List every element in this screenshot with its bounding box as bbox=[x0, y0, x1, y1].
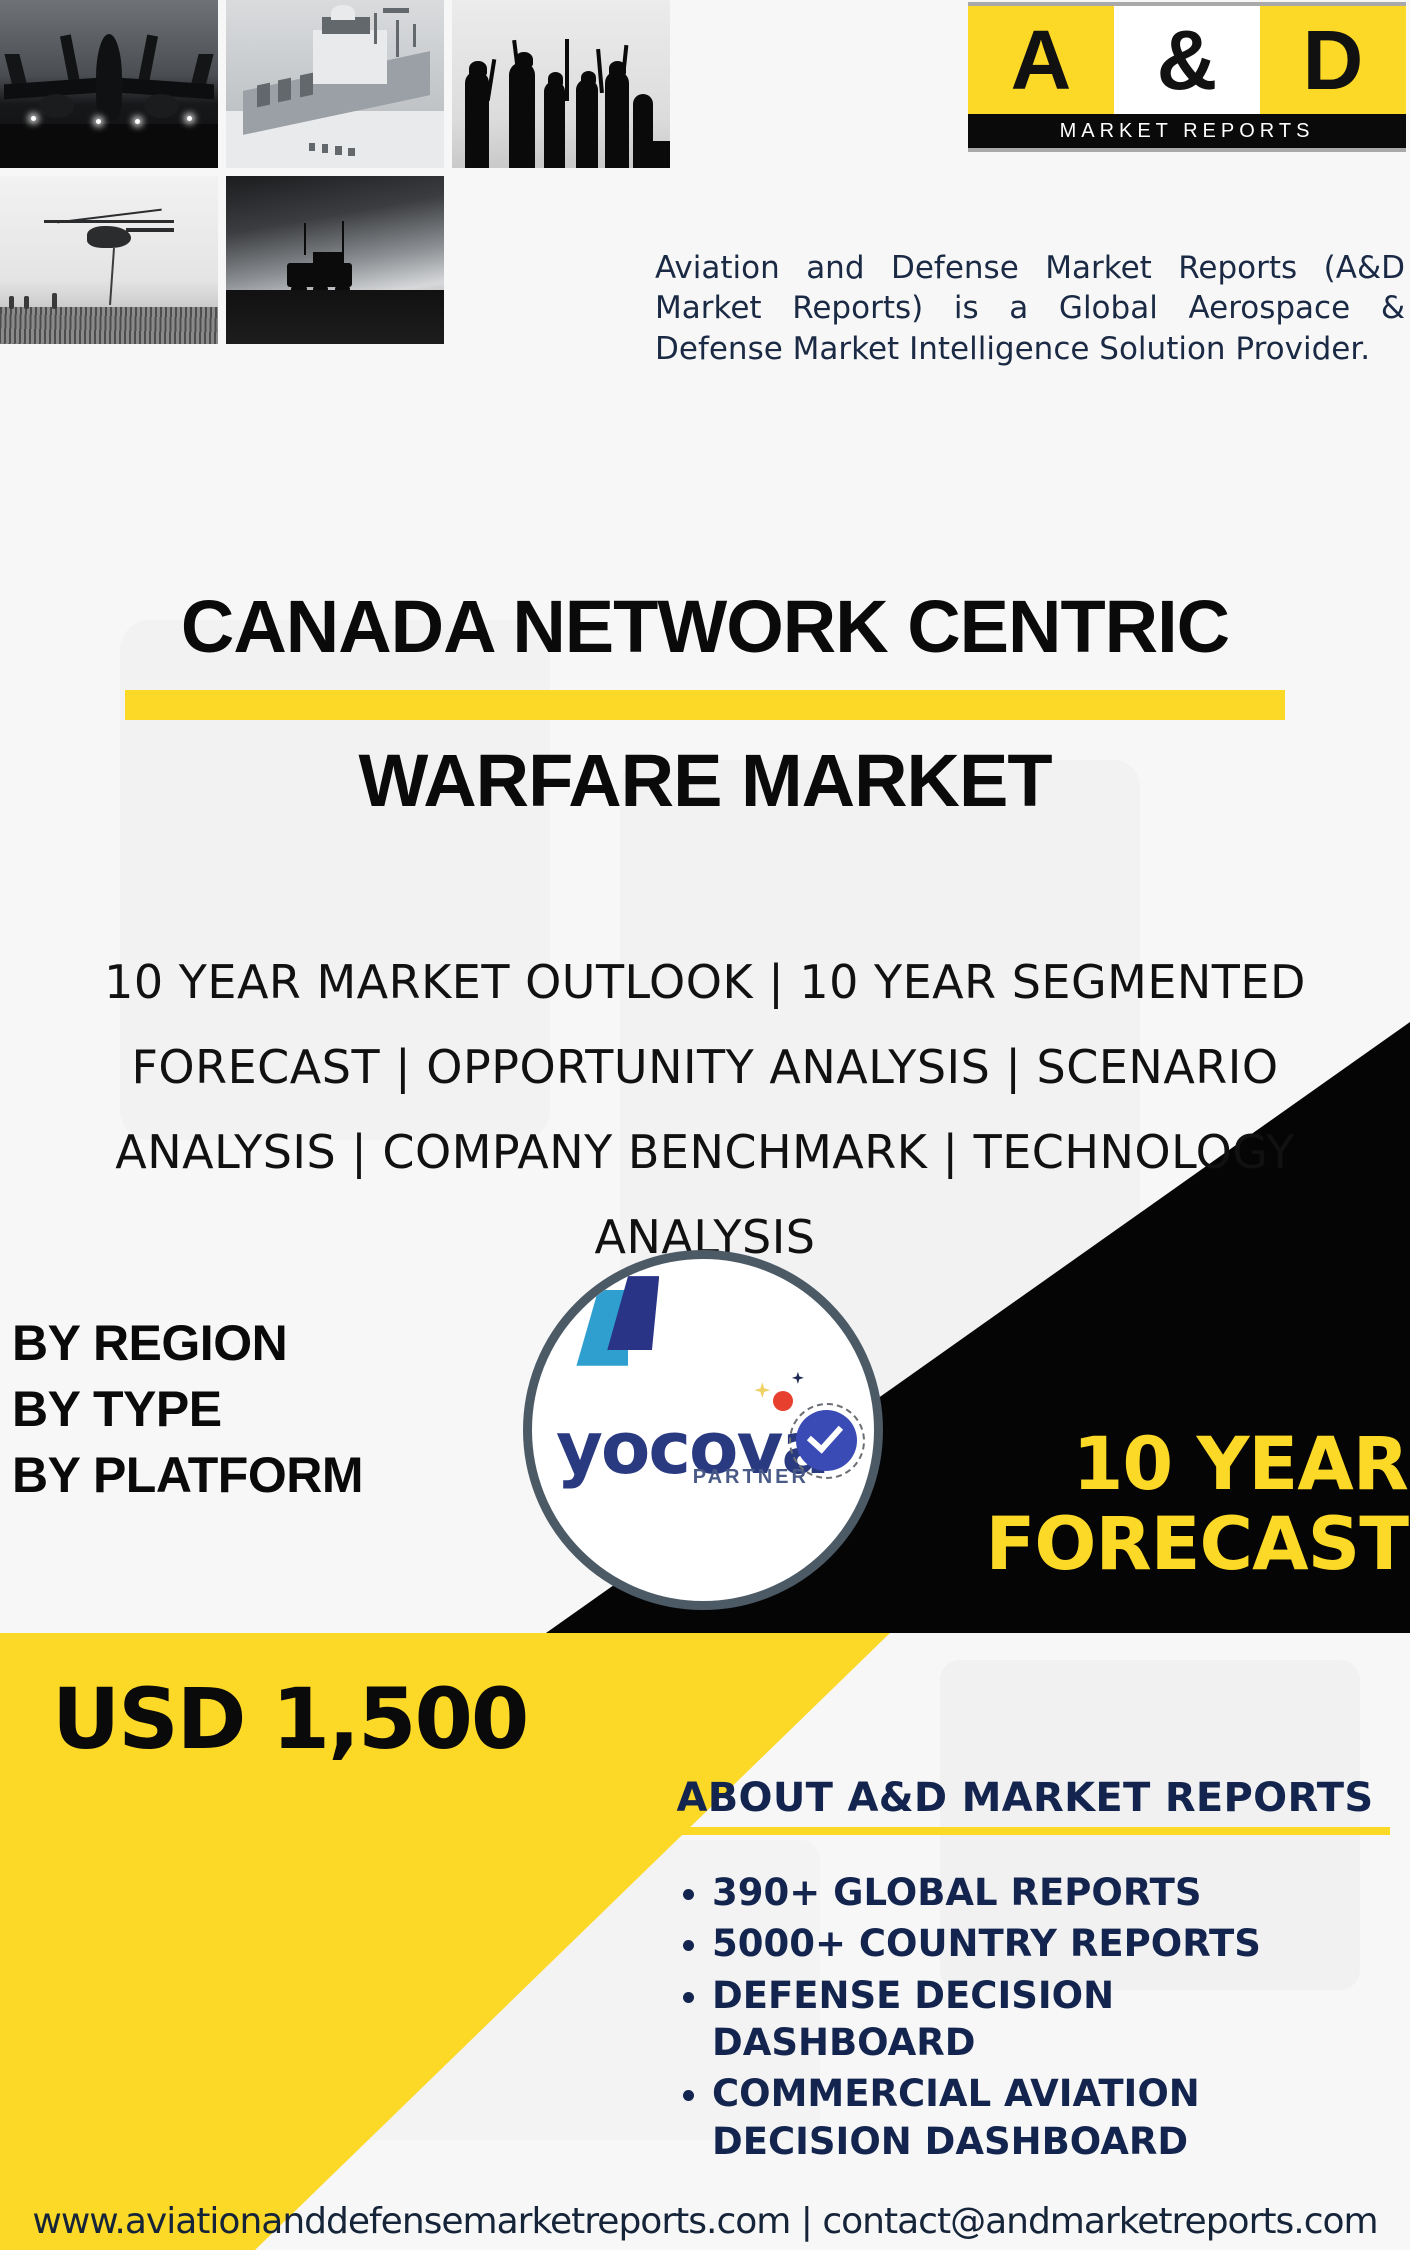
logo-subtitle: MARKET REPORTS bbox=[968, 114, 1406, 148]
report-title: CANADA NETWORK CENTRIC WARFARE MARKET bbox=[0, 590, 1410, 818]
about-heading-underline bbox=[660, 1827, 1390, 1835]
photo-helicopter-fast-rope bbox=[0, 176, 218, 344]
segmentation-list: BY REGION BY TYPE BY PLATFORM bbox=[12, 1310, 532, 1508]
report-title-line-1: CANADA NETWORK CENTRIC bbox=[0, 590, 1410, 664]
segmentation-item-type: BY TYPE bbox=[12, 1376, 532, 1442]
ad-market-reports-logo: A & D MARKET REPORTS bbox=[968, 2, 1406, 156]
price-label: USD 1,500 bbox=[52, 1670, 527, 1768]
logo-letter-ampersand: & bbox=[1114, 6, 1260, 114]
yocova-partner-badge: yocova PARTNER bbox=[523, 1250, 883, 1610]
title-underline-bar bbox=[125, 690, 1285, 720]
poster-canvas: A & D MARKET REPORTS Aviation and Defens… bbox=[0, 0, 1410, 2250]
photo-fighter-jet-on-carrier-deck bbox=[0, 0, 218, 168]
about-bullet-list: 390+ GLOBAL REPORTS 5000+ COUNTRY REPORT… bbox=[660, 1869, 1390, 2165]
list-item: COMMERCIAL AVIATION DECISION DASHBOARD bbox=[712, 2070, 1390, 2165]
photo-soldiers-silhouette bbox=[452, 0, 670, 168]
logo-bottom-rule bbox=[968, 148, 1406, 152]
footer-contact-line: www.aviationanddefensemarketreports.com … bbox=[0, 2201, 1410, 2242]
segmentation-item-platform: BY PLATFORM bbox=[12, 1442, 532, 1508]
report-scope-subtitle: 10 YEAR MARKET OUTLOOK | 10 YEAR SEGMENT… bbox=[30, 940, 1380, 1280]
list-item: 390+ GLOBAL REPORTS bbox=[712, 1869, 1390, 1916]
segmentation-item-region: BY REGION bbox=[12, 1310, 532, 1376]
list-item: 5000+ COUNTRY REPORTS bbox=[712, 1920, 1390, 1967]
sparkle-navy-icon bbox=[792, 1372, 804, 1384]
about-heading: ABOUT A&D MARKET REPORTS bbox=[660, 1775, 1390, 1821]
about-panel: ABOUT A&D MARKET REPORTS 390+ GLOBAL REP… bbox=[660, 1775, 1390, 2169]
photo-armored-vehicle bbox=[226, 176, 444, 344]
verified-seal-icon bbox=[789, 1403, 865, 1479]
logo-letter-a: A bbox=[968, 6, 1114, 114]
logo-letter-d: D bbox=[1260, 6, 1406, 114]
sparkle-yellow-icon bbox=[754, 1382, 770, 1398]
company-intro-paragraph: Aviation and Defense Market Reports (A&D… bbox=[655, 248, 1405, 369]
report-title-line-2: WARFARE MARKET bbox=[0, 744, 1410, 818]
photo-aircraft-carrier bbox=[226, 0, 444, 168]
list-item: DEFENSE DECISION DASHBOARD bbox=[712, 1972, 1390, 2067]
